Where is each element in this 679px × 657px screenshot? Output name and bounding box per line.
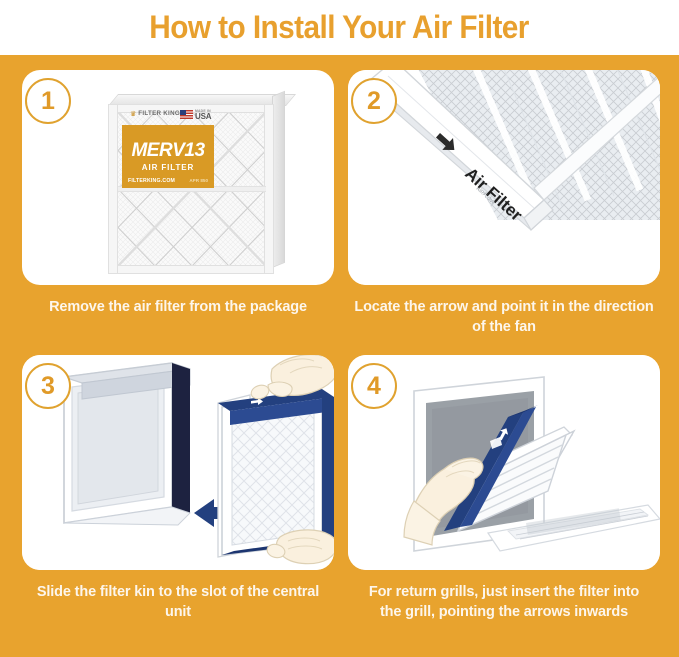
step-card-4: 4 — [348, 355, 660, 570]
filter-king-logo: ♛ FILTER KING — [130, 110, 180, 118]
country-label: USA — [195, 114, 211, 119]
step-caption-2: Locate the arrow and point it in the dir… — [352, 297, 656, 337]
title-bar: How to Install Your Air Filter — [0, 0, 679, 55]
step-number-badge-2: 2 — [351, 78, 397, 124]
label-footer: FILTERKING.COM APR 850 — [128, 178, 208, 184]
usa-flag-icon — [180, 110, 193, 119]
step-caption-4: For return grills, just insert the filte… — [368, 582, 640, 622]
website-url: FILTERKING.COM — [128, 178, 175, 184]
page-title: How to Install Your Air Filter — [150, 9, 530, 46]
merv-label: MERV13 AIR FILTER FILTERKING.COM APR 850 — [122, 125, 214, 188]
step-card-1: ♛ FILTER KING MADE IN USA MERV13 AIR FIL — [22, 70, 334, 285]
infographic-root: How to Install Your Air Filter — [0, 0, 679, 657]
merv-rating: MERV13 — [131, 141, 204, 161]
step-number-badge-3: 3 — [25, 363, 71, 409]
step-card-2: Air Filter AIRFLOW 2 — [348, 70, 660, 285]
air-filter-subtitle: AIR FILTER — [142, 163, 194, 172]
step-number-badge-4: 4 — [351, 363, 397, 409]
filter-frame-left — [108, 104, 118, 274]
step-caption-3: Slide the filter kin to the slot of the … — [30, 582, 326, 622]
filter-frame-bottom — [108, 265, 274, 274]
brand-name: FILTER KING — [138, 111, 180, 117]
step-caption-1: Remove the air filter from the package — [22, 297, 334, 317]
step-card-3: 3 — [22, 355, 334, 570]
merv13-filter-illustration: ♛ FILTER KING MADE IN USA MERV13 AIR FIL — [100, 90, 290, 285]
made-in-usa-badge: MADE IN USA — [180, 109, 211, 119]
usa-text-group: MADE IN USA — [195, 109, 211, 119]
crown-icon: ♛ — [130, 110, 136, 118]
step-number-badge-1: 1 — [25, 78, 71, 124]
apr-rating: APR 850 — [189, 178, 208, 183]
